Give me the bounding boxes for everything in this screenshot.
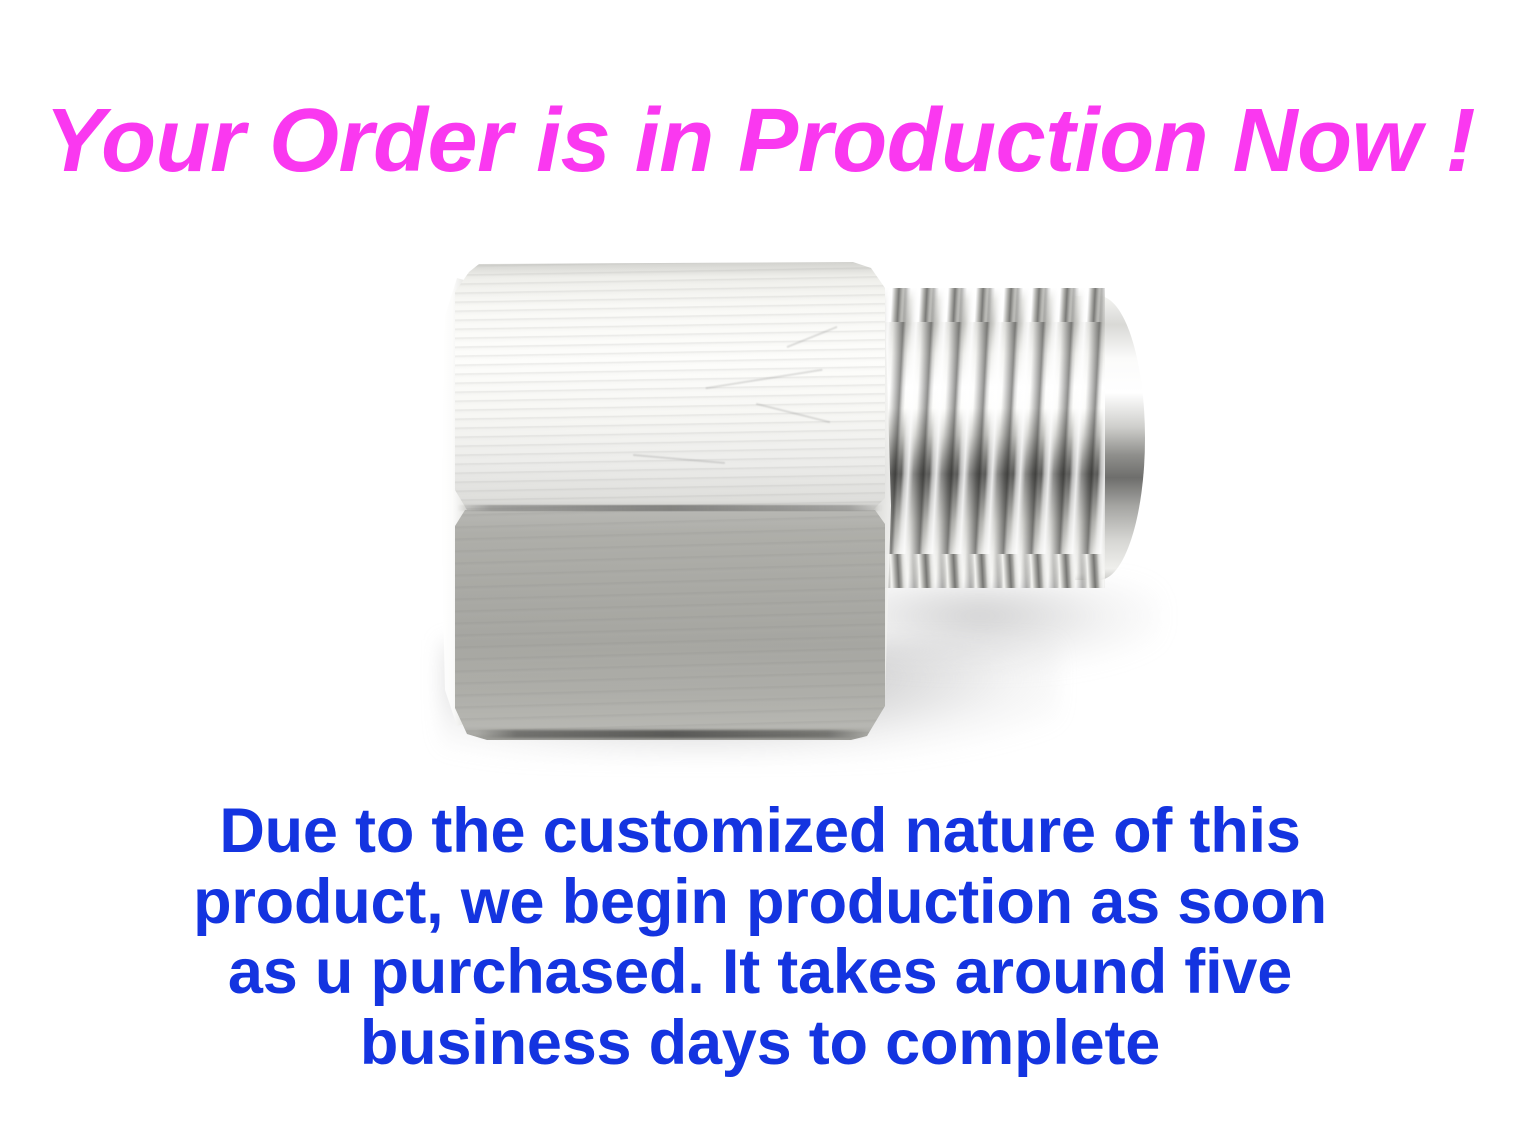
thread-ridges bbox=[855, 288, 1105, 588]
product-photo bbox=[300, 210, 1230, 790]
hex-facet-seam bbox=[457, 505, 883, 511]
thread-cylinder bbox=[855, 288, 1105, 588]
hex-lower-facet-machining-lines bbox=[455, 510, 885, 740]
male-threaded-end bbox=[855, 288, 1145, 588]
page-title: Your Order is in Production Now ! bbox=[0, 96, 1520, 186]
thread-drop-shadow bbox=[860, 580, 1160, 670]
body-copy: Due to the customized nature of this pro… bbox=[0, 796, 1520, 1078]
body-copy-line-3: as u purchased. It takes around five bbox=[0, 937, 1520, 1008]
hex-upper-facet-machining-lines bbox=[455, 262, 885, 510]
hex-bottom-rim bbox=[477, 730, 867, 738]
thread-crest-teeth-bottom bbox=[855, 554, 1105, 588]
body-copy-line-2: product, we begin production as soon bbox=[0, 867, 1520, 938]
hex-body bbox=[455, 262, 885, 740]
thread-crest-teeth-top bbox=[855, 288, 1105, 322]
promo-banner: Your Order is in Production Now ! bbox=[0, 0, 1520, 1140]
body-copy-line-1: Due to the customized nature of this bbox=[0, 796, 1520, 867]
body-copy-line-4: business days to complete bbox=[0, 1008, 1520, 1079]
